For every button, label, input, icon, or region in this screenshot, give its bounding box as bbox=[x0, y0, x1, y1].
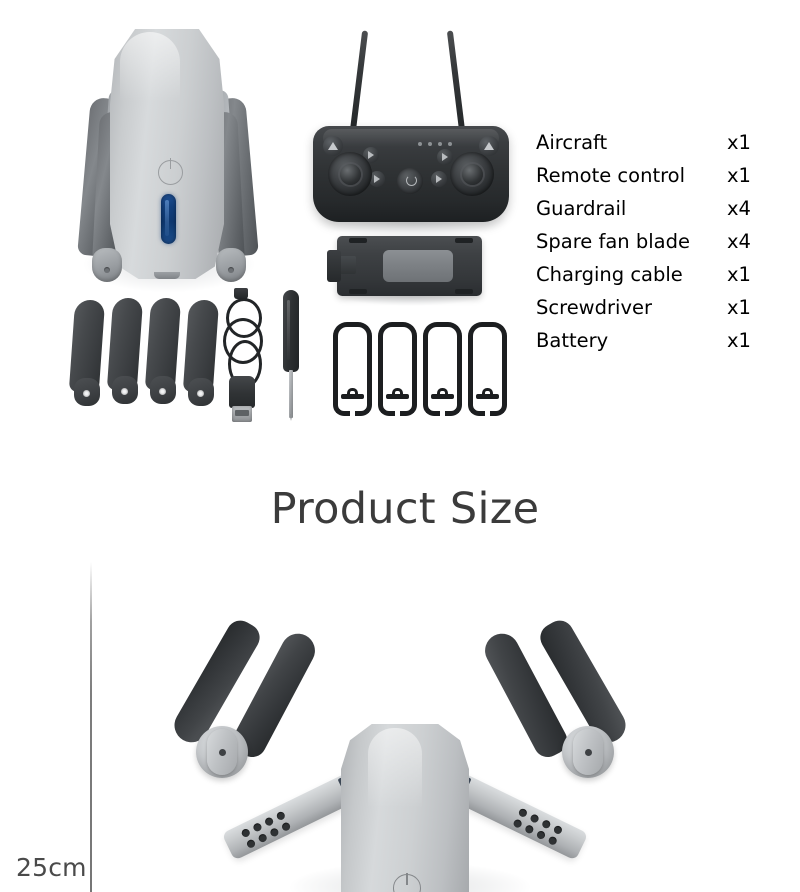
guardrail-claw-right bbox=[400, 396, 417, 416]
dimension-label: 25cm bbox=[16, 853, 87, 882]
guardrail-claw-left bbox=[378, 396, 395, 416]
item-qty: x1 bbox=[727, 126, 751, 159]
vent-hole bbox=[547, 835, 558, 846]
screwdriver-handle bbox=[283, 290, 299, 372]
guardrail-claw-left bbox=[333, 396, 350, 416]
item-name: Battery bbox=[536, 324, 608, 357]
battery-notch bbox=[349, 238, 367, 243]
shoulder-button-right bbox=[479, 136, 499, 156]
battery-label-panel bbox=[383, 250, 453, 282]
battery-notch bbox=[455, 289, 473, 294]
battery-notch bbox=[349, 289, 367, 294]
vent-hole bbox=[524, 824, 535, 835]
item-qty: x1 bbox=[727, 258, 751, 291]
joystick-left bbox=[328, 152, 372, 196]
usb-a-connector bbox=[232, 406, 252, 422]
item-name: Remote control bbox=[536, 159, 685, 192]
list-item: Spare fan blade x4 bbox=[536, 225, 786, 258]
battery-notch bbox=[455, 238, 473, 243]
usb-plug-housing bbox=[229, 376, 255, 408]
item-name: Guardrail bbox=[536, 192, 626, 225]
guardrail bbox=[468, 322, 507, 418]
battery-connector-lip bbox=[340, 256, 356, 274]
guardrail bbox=[333, 322, 372, 418]
battery-image bbox=[327, 236, 482, 296]
folded-drone-image bbox=[74, 26, 264, 288]
landing-foot-dot bbox=[228, 267, 234, 273]
item-qty: x4 bbox=[727, 192, 751, 225]
vent-hole bbox=[541, 819, 552, 830]
function-button-3 bbox=[437, 149, 453, 165]
item-qty: x1 bbox=[727, 324, 751, 357]
landing-foot-dot bbox=[104, 267, 110, 273]
unfolded-drone-body-highlight bbox=[368, 728, 422, 808]
vent-hole bbox=[281, 821, 292, 832]
guardrail-claw-left bbox=[468, 396, 485, 416]
blade-hub-hole bbox=[159, 388, 166, 395]
antenna-left bbox=[350, 30, 368, 130]
arm-vent-holes bbox=[512, 807, 565, 847]
led-dot bbox=[418, 142, 422, 146]
vent-hole bbox=[240, 828, 251, 839]
folded-drone-body-highlight bbox=[120, 32, 180, 102]
screwdriver-shaft bbox=[289, 370, 293, 418]
guardrail-claw-left bbox=[423, 396, 440, 416]
page-title: Product Size bbox=[0, 484, 800, 534]
vent-hole bbox=[529, 813, 540, 824]
list-item: Aircraft x1 bbox=[536, 126, 786, 159]
vent-hole bbox=[264, 816, 275, 827]
landing-foot-right bbox=[216, 248, 246, 282]
list-item: Guardrail x4 bbox=[536, 192, 786, 225]
guardrail-claw-right bbox=[490, 396, 507, 416]
item-qty: x1 bbox=[727, 291, 751, 324]
antenna-right bbox=[447, 30, 465, 130]
spare-fan-blade bbox=[148, 298, 178, 408]
vent-hole bbox=[269, 827, 280, 838]
list-item: Screwdriver x1 bbox=[536, 291, 786, 324]
vent-hole bbox=[275, 811, 286, 822]
spare-fan-blade bbox=[72, 300, 102, 410]
vent-hole bbox=[246, 838, 257, 849]
item-name: Aircraft bbox=[536, 126, 607, 159]
spare-fan-blade bbox=[110, 298, 140, 408]
vent-hole bbox=[512, 818, 523, 829]
led-dot bbox=[428, 142, 432, 146]
vent-hole bbox=[252, 822, 263, 833]
power-icon bbox=[158, 160, 183, 185]
landing-foot-left bbox=[92, 248, 122, 282]
vent-hole bbox=[536, 830, 547, 841]
spare-fan-blade bbox=[186, 300, 216, 410]
package-contents-list: Aircraft x1 Remote control x1 Guardrail … bbox=[536, 126, 786, 357]
item-qty: x1 bbox=[727, 159, 751, 192]
joystick-right bbox=[450, 152, 494, 196]
motor-hub-left bbox=[196, 726, 248, 778]
vent-hole bbox=[518, 807, 529, 818]
item-name: Charging cable bbox=[536, 258, 683, 291]
vent-hole bbox=[553, 825, 564, 836]
screwdriver-image bbox=[281, 290, 301, 420]
item-name: Screwdriver bbox=[536, 291, 652, 324]
blade-hub-hole bbox=[197, 390, 204, 397]
measurement-line bbox=[90, 562, 92, 892]
hub-screw bbox=[219, 749, 226, 756]
arm-vent-holes bbox=[240, 810, 293, 850]
indicator-leds bbox=[418, 142, 452, 146]
guardrail-claw-right bbox=[355, 396, 372, 416]
led-dot bbox=[438, 142, 442, 146]
motor-hub-right bbox=[562, 726, 614, 778]
hub-screw bbox=[585, 749, 592, 756]
item-qty: x4 bbox=[727, 225, 751, 258]
guardrail-claw-right bbox=[445, 396, 462, 416]
product-detail-page: Aircraft x1 Remote control x1 Guardrail … bbox=[0, 0, 800, 892]
list-item: Charging cable x1 bbox=[536, 258, 786, 291]
power-icon bbox=[397, 168, 423, 194]
list-item: Remote control x1 bbox=[536, 159, 786, 192]
led-indicator-strip bbox=[161, 194, 176, 244]
remote-control-image bbox=[313, 28, 509, 228]
unfolded-drone-image bbox=[140, 612, 670, 892]
folded-drone-tail bbox=[154, 272, 180, 279]
blade-hub-hole bbox=[121, 388, 128, 395]
vent-hole bbox=[257, 833, 268, 844]
battery-connector bbox=[327, 250, 341, 282]
item-name: Spare fan blade bbox=[536, 225, 690, 258]
led-dot bbox=[448, 142, 452, 146]
guardrail bbox=[423, 322, 462, 418]
charging-cable-image bbox=[222, 288, 266, 420]
function-button-4 bbox=[431, 171, 447, 187]
guardrail bbox=[378, 322, 417, 418]
list-item: Battery x1 bbox=[536, 324, 786, 357]
blade-hub-hole bbox=[83, 390, 90, 397]
